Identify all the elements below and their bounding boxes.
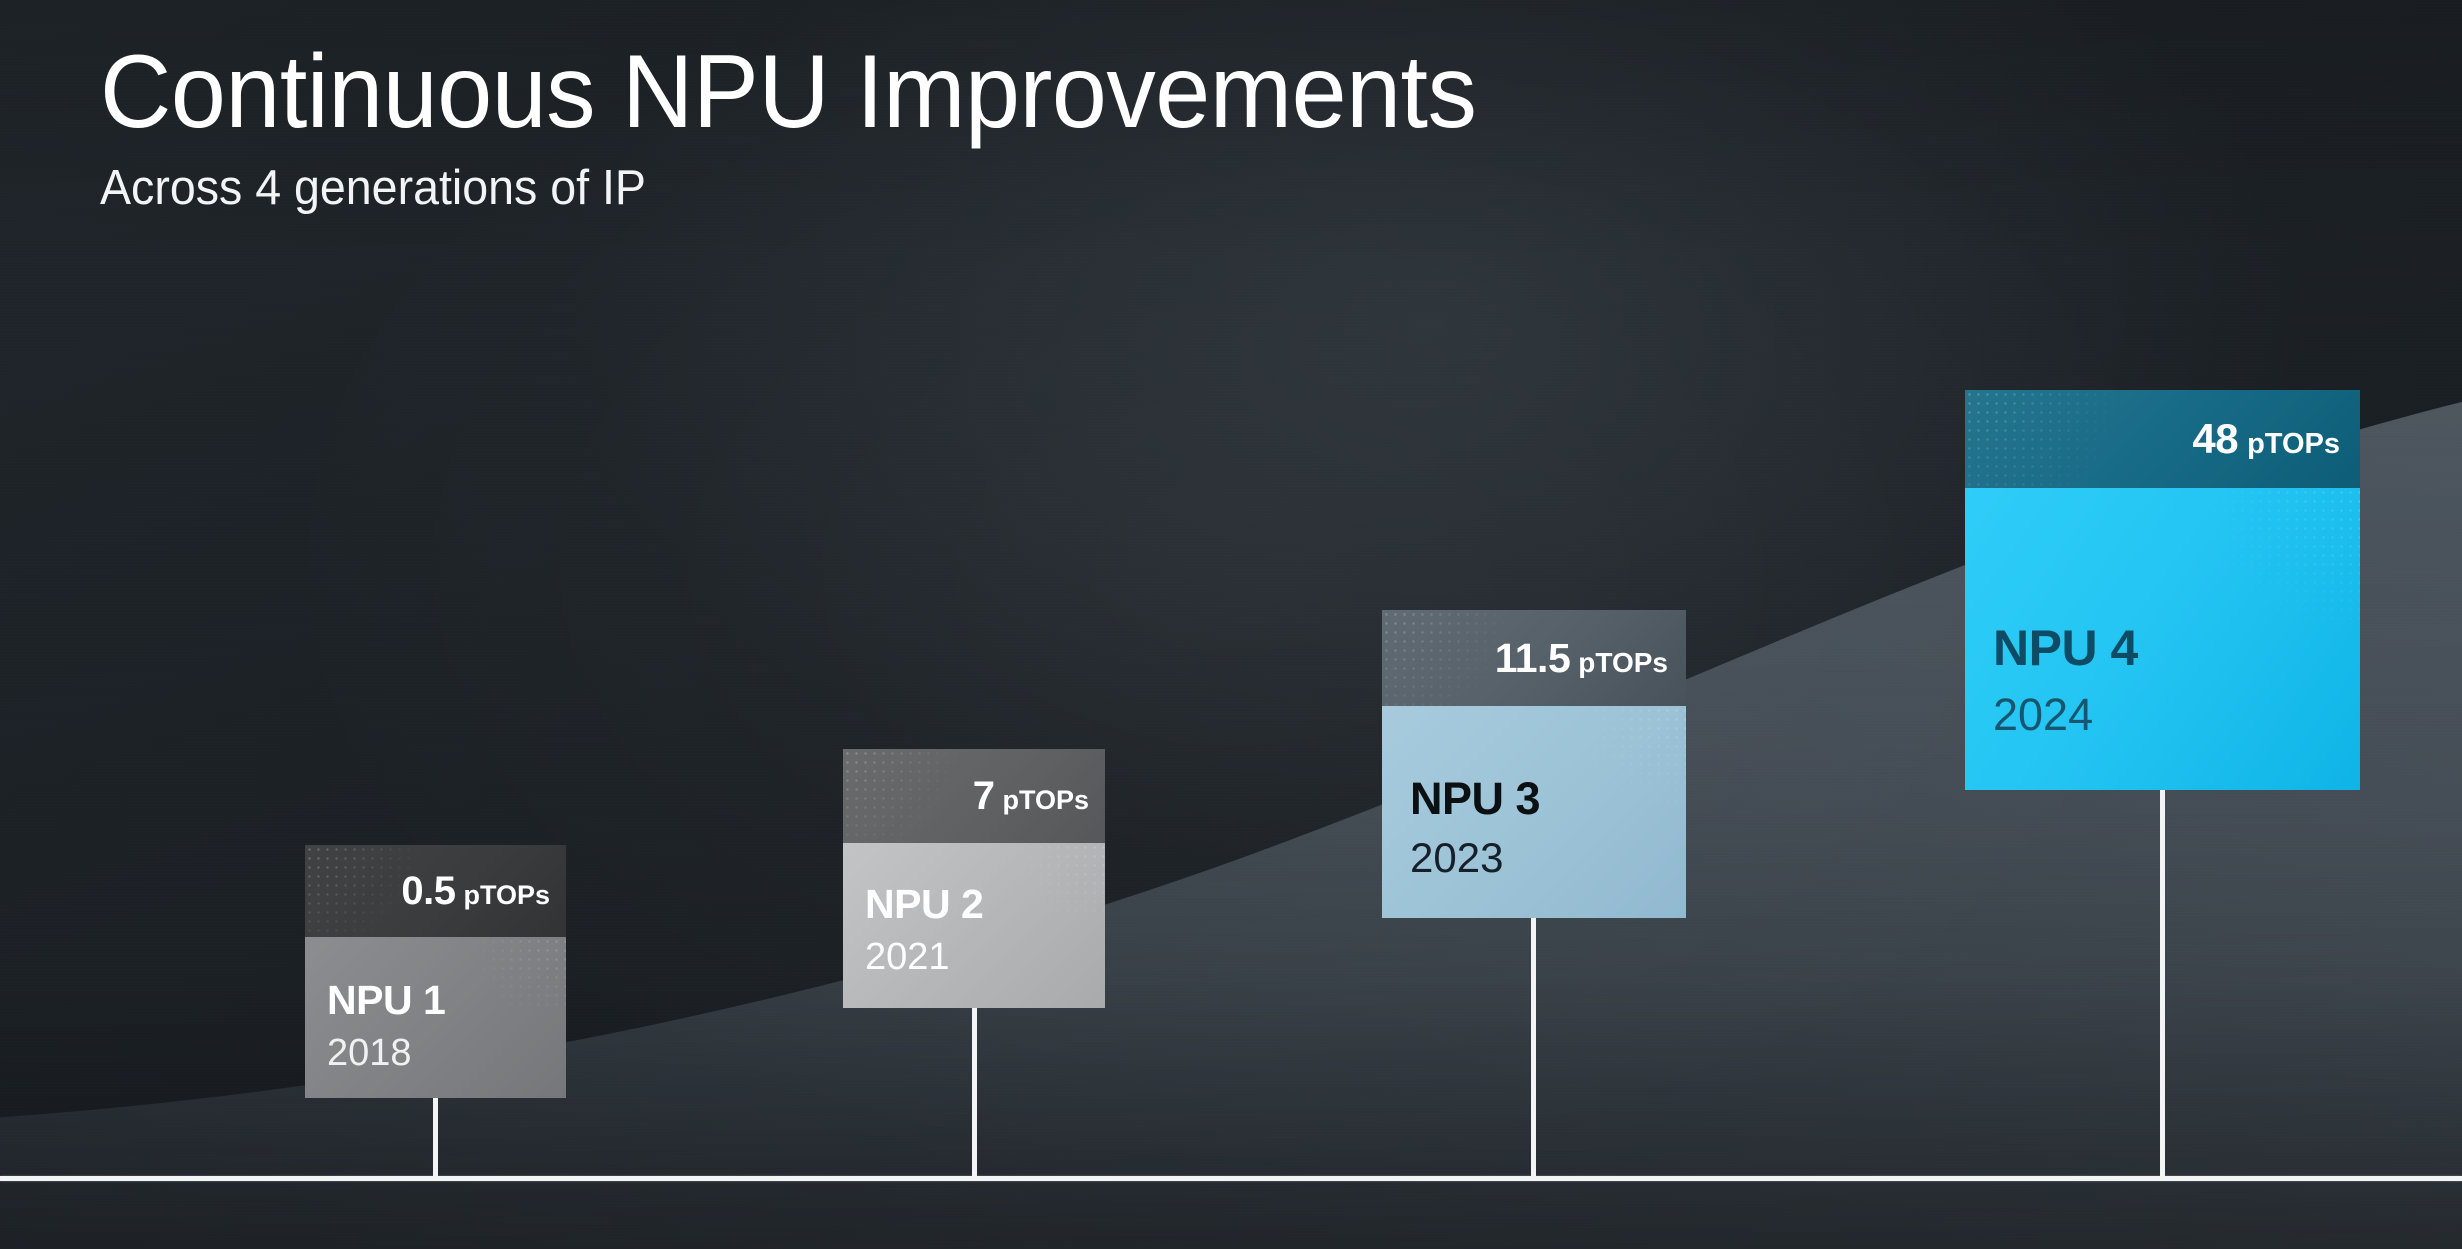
npu-card-1-year: 2018 <box>327 1034 566 1074</box>
value-label-group: 7 pTOPs <box>973 774 1089 819</box>
npu-card-1-body: NPU 1 2018 <box>305 937 566 1098</box>
npu-card-2-unit: pTOPs <box>1002 785 1089 816</box>
npu-card-2-year: 2021 <box>865 938 1105 978</box>
slide-canvas: Continuous NPU Improvements Across 4 gen… <box>0 0 2462 1249</box>
npu-card-1-value: 0.5 <box>401 869 455 914</box>
npu-card-4-body: NPU 4 2024 <box>1965 488 2360 790</box>
npu-card-2-body: NPU 2 2021 <box>843 843 1105 1008</box>
npu-card-3-stem <box>1531 918 1536 1178</box>
page-subtitle: Across 4 generations of IP <box>100 164 1476 213</box>
halftone-dots-icon <box>1965 390 2147 488</box>
npu-card-1[interactable]: 0.5 pTOPs NPU 1 2018 <box>305 845 566 1098</box>
npu-card-3-value: 11.5 <box>1495 635 1571 682</box>
value-label-group: 11.5 pTOPs <box>1495 635 1668 682</box>
npu-card-2-stem <box>972 1008 977 1178</box>
npu-card-4-value: 48 <box>2192 415 2238 463</box>
npu-card-4-labels: NPU 4 2024 <box>1993 622 2360 738</box>
heading-block: Continuous NPU Improvements Across 4 gen… <box>100 40 1549 213</box>
npu-card-3-value-header: 11.5 pTOPs <box>1382 610 1686 706</box>
halftone-dots-icon <box>2202 488 2360 627</box>
npu-card-1-labels: NPU 1 2018 <box>327 979 566 1074</box>
npu-card-1-unit: pTOPs <box>463 880 550 911</box>
npu-card-3-unit: pTOPs <box>1578 647 1668 679</box>
npu-card-3-labels: NPU 3 2023 <box>1410 775 1686 880</box>
npu-card-2-name: NPU 2 <box>865 883 1105 926</box>
timeline-baseline <box>0 1176 2462 1181</box>
npu-card-3-body: NPU 3 2023 <box>1382 706 1686 918</box>
npu-card-3-name: NPU 3 <box>1410 775 1686 822</box>
npu-card-2-labels: NPU 2 2021 <box>865 883 1105 978</box>
value-label-group: 0.5 pTOPs <box>401 869 550 914</box>
npu-card-2-value-header: 7 pTOPs <box>843 749 1105 843</box>
npu-card-1-stem <box>433 1098 438 1178</box>
npu-card-4-unit: pTOPs <box>2247 428 2340 461</box>
npu-card-4-name: NPU 4 <box>1993 622 2360 675</box>
npu-card-1-value-header: 0.5 pTOPs <box>305 845 566 937</box>
halftone-dots-icon <box>843 749 964 843</box>
npu-card-4-year: 2024 <box>1993 691 2360 738</box>
npu-card-3-year: 2023 <box>1410 836 1686 880</box>
npu-card-4-value-header: 48 pTOPs <box>1965 390 2360 488</box>
npu-card-2[interactable]: 7 pTOPs NPU 2 2021 <box>843 749 1105 1008</box>
npu-card-4-stem <box>2160 790 2165 1178</box>
npu-card-1-name: NPU 1 <box>327 979 566 1022</box>
npu-card-3[interactable]: 11.5 pTOPs NPU 3 2023 <box>1382 610 1686 918</box>
npu-card-2-value: 7 <box>973 774 995 819</box>
value-label-group: 48 pTOPs <box>2192 415 2340 463</box>
npu-card-4[interactable]: 48 pTOPs NPU 4 2024 <box>1965 390 2360 790</box>
page-title: Continuous NPU Improvements <box>100 40 1476 144</box>
